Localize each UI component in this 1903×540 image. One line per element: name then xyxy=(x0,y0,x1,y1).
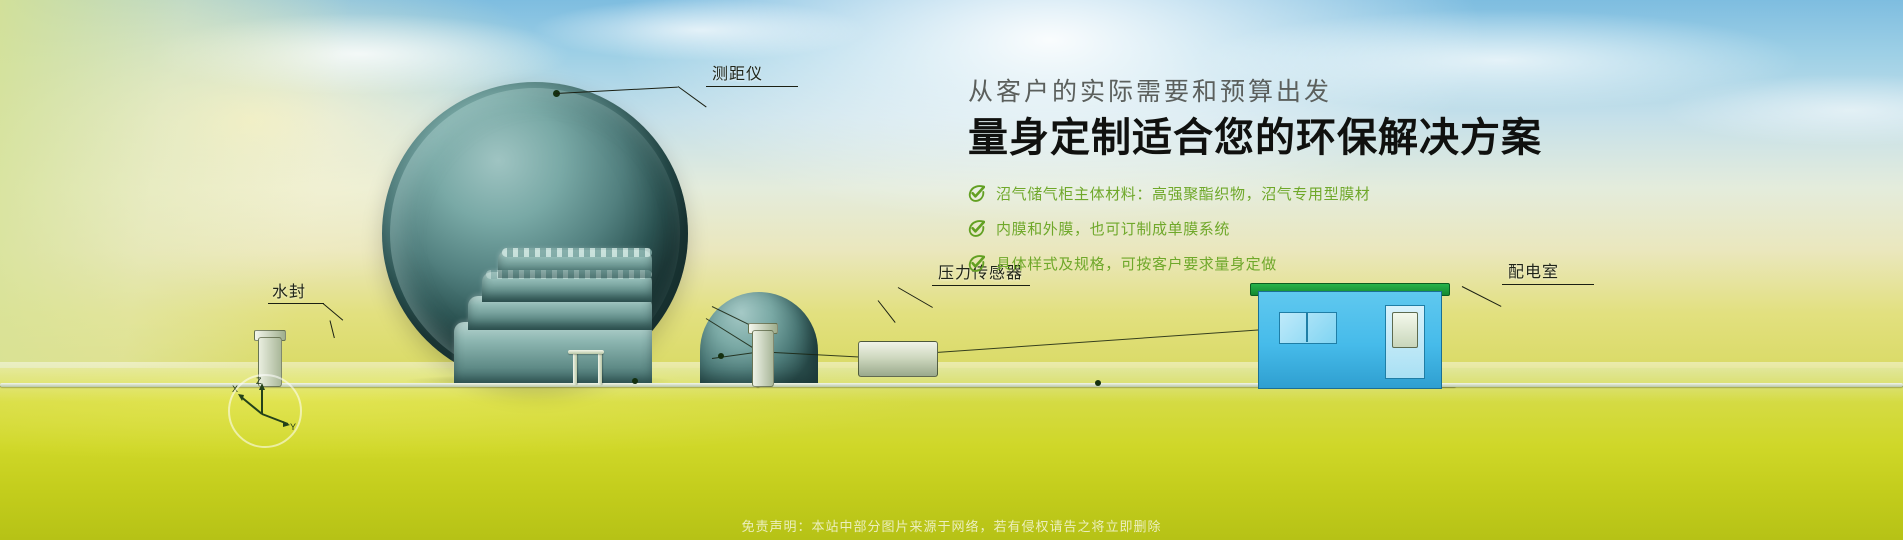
blower-unit xyxy=(858,341,938,377)
feature-text: 内膜和外膜，也可订制成单膜系统 xyxy=(996,218,1230,239)
feature-item: 沼气储气柜主体材料：高强聚酯织物，沼气专用型膜材 xyxy=(968,183,1608,204)
electrical-panel-icon xyxy=(1392,312,1418,348)
sun-glow xyxy=(0,0,420,392)
main-pipe xyxy=(262,383,760,387)
axis-gizmo: Z Y X xyxy=(228,374,302,448)
callout-label-rangefinder: 测距仪 xyxy=(712,60,763,84)
check-circle-icon xyxy=(968,185,985,202)
check-circle-icon xyxy=(968,255,985,272)
check-circle-icon xyxy=(968,220,985,237)
gizmo-ring xyxy=(228,374,302,448)
copy-subtitle: 从客户的实际需要和预算出发 xyxy=(968,80,1608,105)
feature-text: 沼气储气柜主体材料：高强聚酯织物，沼气专用型膜材 xyxy=(996,183,1370,204)
disclaimer-text: 免责声明：本站中部分图片来源于网络，若有侵权请告之将立即删除 xyxy=(0,516,1903,535)
dome-inlet-pipe xyxy=(573,352,577,385)
dome-inlet-header xyxy=(568,350,604,354)
pipe-node xyxy=(632,378,638,384)
hero-banner: 测距仪 水封 压力传感器 配电室 Z Y X xyxy=(0,0,1903,540)
main-pipe xyxy=(1440,383,1903,387)
callout-label-water-seal: 水封 xyxy=(272,278,306,302)
dome-inner-membrane xyxy=(424,210,652,385)
membrane-ripple xyxy=(502,248,652,257)
pressure-sensor-unit xyxy=(752,330,774,387)
feature-text: 具体样式及规格，可按客户要求量身定做 xyxy=(996,253,1277,274)
dome-inlet-pipe xyxy=(598,352,602,385)
callout-bar xyxy=(706,86,798,87)
main-pipe xyxy=(0,383,262,387)
membrane-ripple xyxy=(486,270,652,279)
copy-title: 量身定制适合您的环保解决方案 xyxy=(968,117,1608,159)
feature-list: 沼气储气柜主体材料：高强聚酯织物，沼气专用型膜材 内膜和外膜，也可订制成单膜系统 xyxy=(968,183,1608,274)
biogas-gas-holder-dome xyxy=(382,82,688,385)
feature-item: 具体样式及规格，可按客户要求量身定做 xyxy=(968,253,1608,274)
marketing-copy: 从客户的实际需要和预算出发 量身定制适合您的环保解决方案 沼气储气柜主体材料：高… xyxy=(968,80,1608,288)
pipe-node xyxy=(1095,380,1101,386)
feature-item: 内膜和外膜，也可订制成单膜系统 xyxy=(968,218,1608,239)
membrane-fold xyxy=(454,322,652,385)
pipe-node xyxy=(718,353,724,359)
control-house-window xyxy=(1279,312,1337,344)
callout-bar xyxy=(268,303,324,304)
